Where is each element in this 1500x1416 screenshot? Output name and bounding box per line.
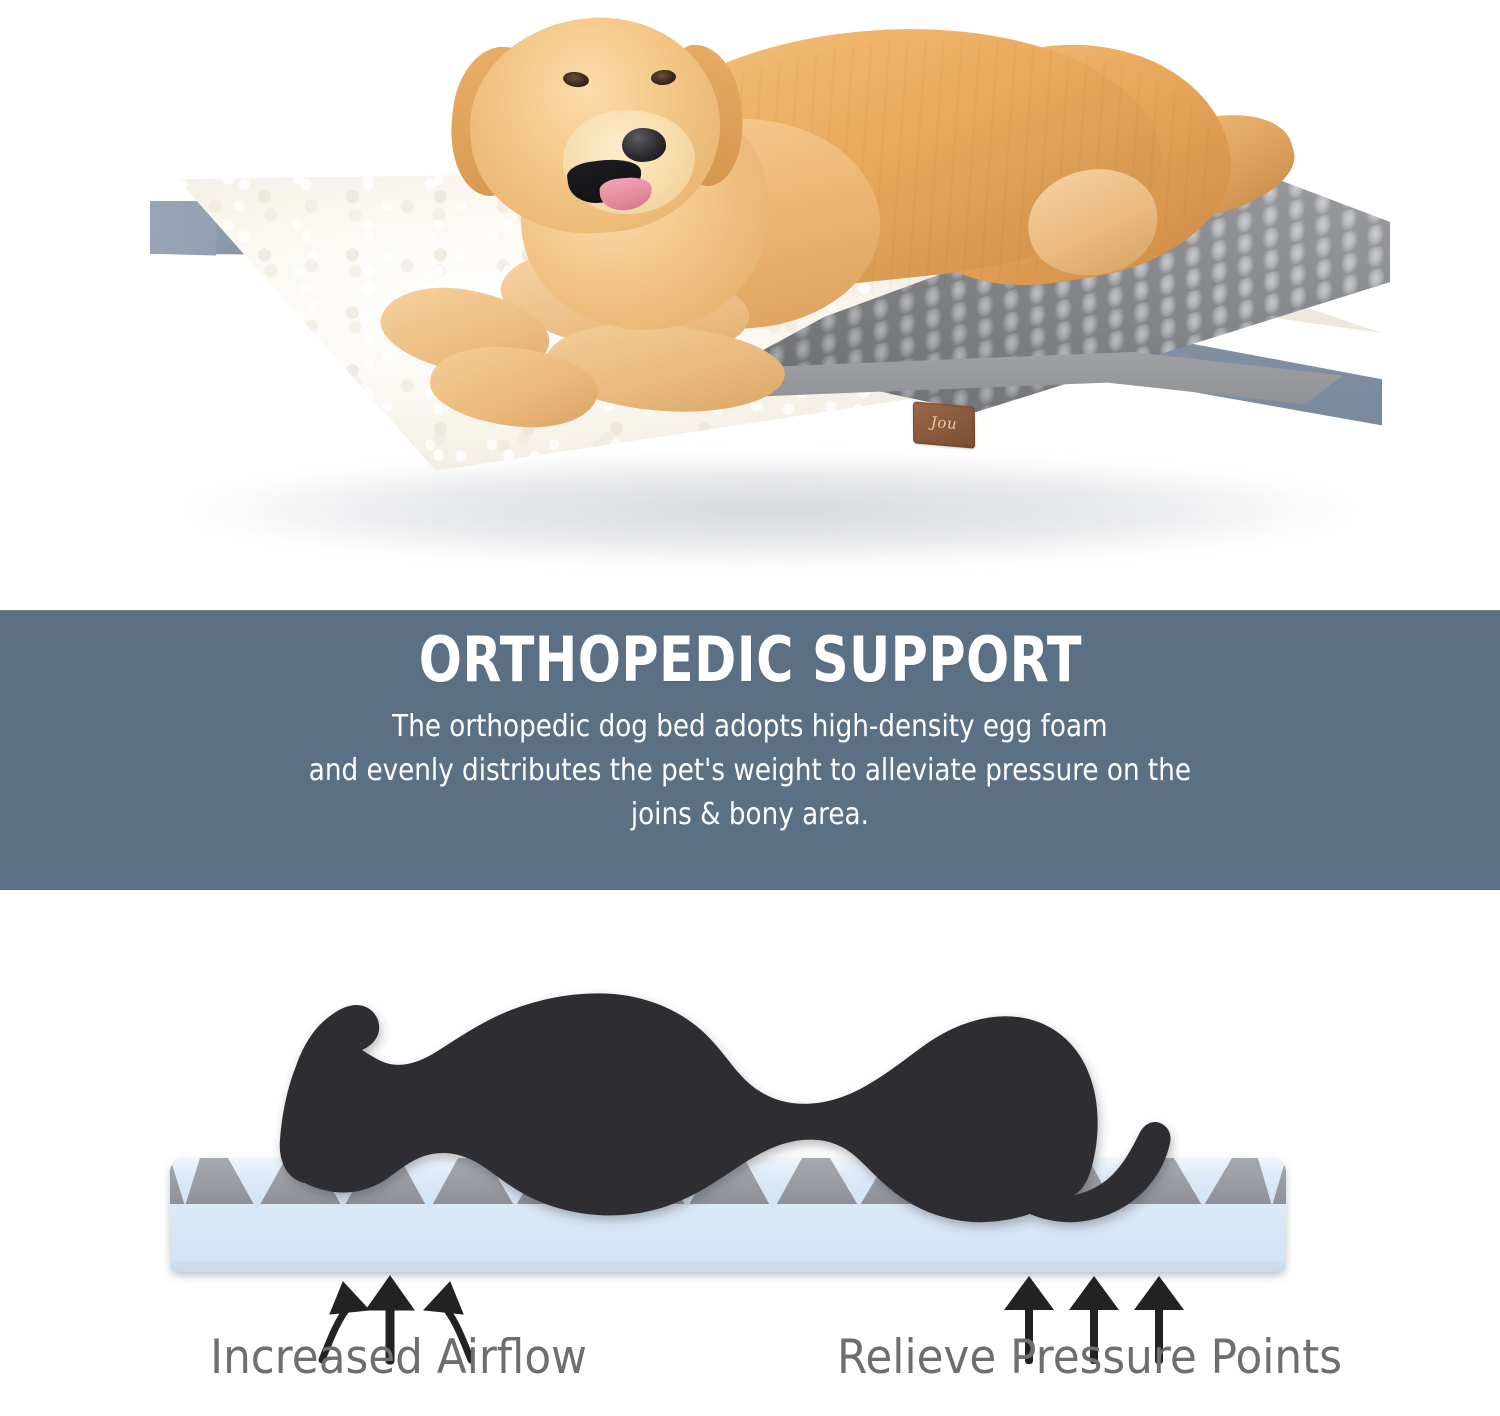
banner-body-line-1: The orthopedic dog bed adopts high-densi… [309, 705, 1191, 749]
dog-nose [622, 128, 666, 162]
label-increased-airflow: Increased Airflow [210, 1330, 587, 1385]
banner-body-line-3: joins & bony area. [309, 793, 1191, 837]
orthopedic-support-banner: ORTHOPEDIC SUPPORT The orthopedic dog be… [0, 610, 1500, 890]
foam-pad-bottom-edge [170, 1262, 1286, 1272]
hero-product-photo: Jou [0, 0, 1500, 610]
golden-retriever-photo [0, 0, 1500, 610]
photo-stage: Jou [0, 0, 1500, 610]
banner-body: The orthopedic dog bed adopts high-densi… [309, 705, 1191, 837]
banner-body-line-2: and evenly distributes the pet's weight … [309, 749, 1191, 793]
banner-title: ORTHOPEDIC SUPPORT [418, 628, 1081, 691]
airflow-pressure-diagram: Increased Airflow Relieve Pressure Point… [0, 890, 1500, 1416]
label-relieve-pressure-points: Relieve Pressure Points [837, 1330, 1342, 1385]
